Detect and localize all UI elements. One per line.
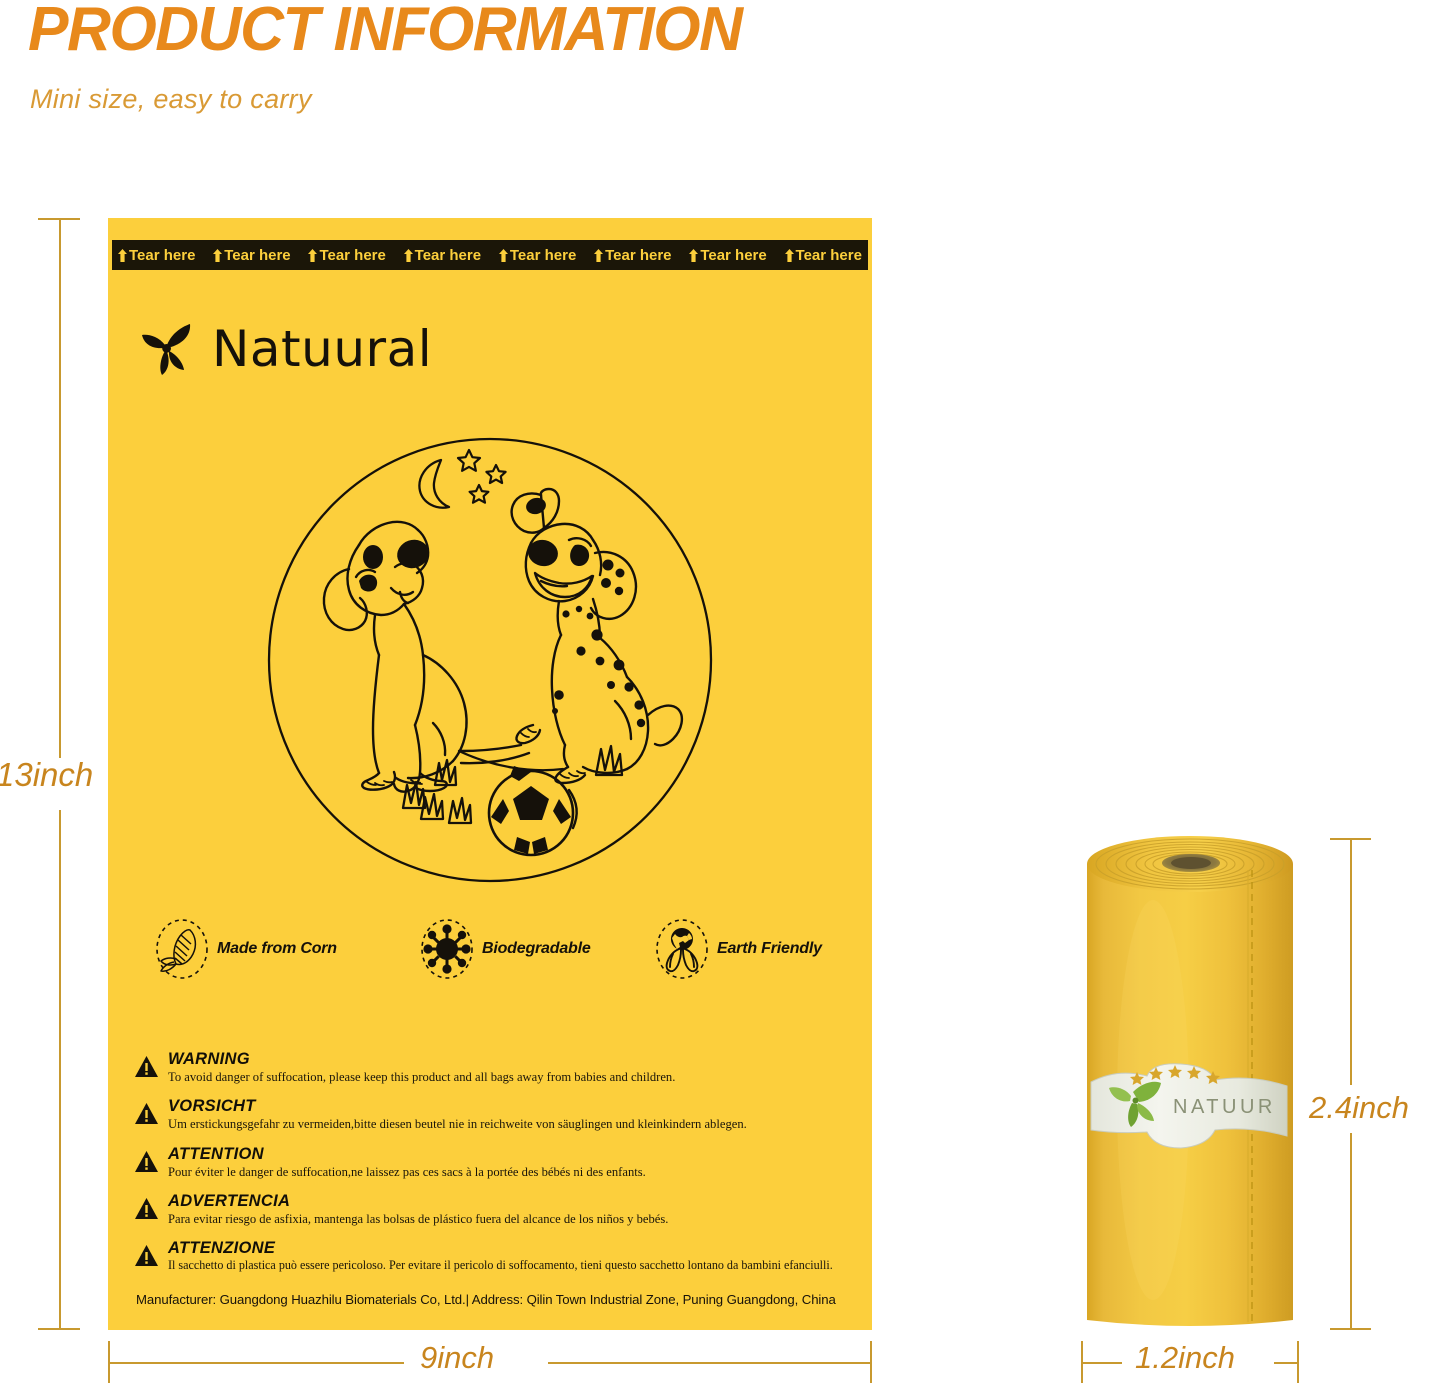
up-arrow-icon <box>785 249 794 262</box>
tear-here-label: Tear here <box>224 247 290 264</box>
warning-triangle-icon <box>134 1197 159 1220</box>
warning-triangle-icon <box>134 1244 159 1267</box>
roll-height-cap-bottom <box>1330 1328 1371 1330</box>
roll-width-cap-right <box>1297 1341 1299 1383</box>
brand-lockup: Natuural <box>136 318 432 380</box>
star-icon <box>458 450 506 503</box>
up-arrow-icon <box>308 249 317 262</box>
feature-made-from-corn: Made from Corn <box>154 918 419 980</box>
corn-icon <box>154 918 210 980</box>
bag-width-cap-right <box>870 1341 872 1383</box>
puppies-illustration <box>263 433 718 888</box>
tear-here-label: Tear here <box>796 247 862 264</box>
tear-here-label: Tear here <box>605 247 671 264</box>
warning-body: Il sacchetto di plastica può essere peri… <box>168 1258 833 1273</box>
warning-title: WARNING <box>168 1050 675 1068</box>
soccer-ball-icon <box>489 766 577 855</box>
roll-height-label: 2.4inch <box>1309 1090 1409 1126</box>
warning-title: ATTENZIONE <box>168 1239 833 1257</box>
tear-here-item: Tear here <box>118 247 195 264</box>
tear-here-label: Tear here <box>129 247 195 264</box>
feature-earth-friendly: Earth Friendly <box>654 918 822 980</box>
brand-name: Natuural <box>212 320 432 378</box>
tear-here-item: Tear here <box>785 247 862 264</box>
warning-title: VORSICHT <box>168 1097 747 1115</box>
warning-body: Um erstickungsgefahr zu vermeiden,bitte … <box>168 1116 747 1132</box>
roll-height-cap-top <box>1330 838 1371 840</box>
warning-row: ATTENTION Pour éviter le danger de suffo… <box>134 1145 850 1180</box>
warning-body: Pour éviter le danger de suffocation,ne … <box>168 1164 646 1180</box>
up-arrow-icon <box>689 249 698 262</box>
warning-triangle-icon <box>134 1102 159 1125</box>
feature-badges: Made from Corn <box>154 918 854 980</box>
warning-row: WARNING To avoid danger of suffocation, … <box>134 1050 850 1085</box>
feature-biodegradable: Biodegradable <box>419 918 654 980</box>
warning-triangle-icon <box>134 1055 159 1078</box>
butterfly-leaf-icon <box>136 318 198 380</box>
bag-width-cap-left <box>108 1341 110 1383</box>
warning-row: ADVERTENCIA Para evitar riesgo de asfixi… <box>134 1192 850 1227</box>
tear-here-label: Tear here <box>415 247 481 264</box>
warning-body: Para evitar riesgo de asfixia, mantenga … <box>168 1211 668 1227</box>
page-subtitle: Mini size, easy to carry <box>30 84 312 115</box>
warning-body: To avoid danger of suffocation, please k… <box>168 1069 675 1085</box>
product-information-page: PRODUCT INFORMATION Mini size, easy to c… <box>0 0 1445 1389</box>
warning-row: ATTENZIONE Il sacchetto di plastica può … <box>134 1239 850 1274</box>
warning-row: VORSICHT Um erstickungsgefahr zu vermeid… <box>134 1097 850 1132</box>
molecule-icon <box>419 918 475 980</box>
tear-here-item: Tear here <box>689 247 766 264</box>
bag-height-label-text: 13inch <box>0 756 93 794</box>
up-arrow-icon <box>499 249 508 262</box>
up-arrow-icon <box>118 249 127 262</box>
roll-width-cap-left <box>1081 1341 1083 1383</box>
page-title: PRODUCT INFORMATION <box>28 0 742 65</box>
up-arrow-icon <box>213 249 222 262</box>
tear-here-label: Tear here <box>319 247 385 264</box>
tear-here-label: Tear here <box>700 247 766 264</box>
puppy-icon <box>324 522 529 792</box>
tear-here-item: Tear here <box>213 247 290 264</box>
warning-list: WARNING To avoid danger of suffocation, … <box>134 1050 850 1286</box>
warning-triangle-icon <box>134 1150 159 1173</box>
bag-width-label: 9inch <box>420 1340 494 1376</box>
crescent-moon-icon <box>419 460 449 508</box>
feature-label: Earth Friendly <box>717 940 822 958</box>
earth-hands-icon <box>654 918 710 980</box>
tear-here-item: Tear here <box>308 247 385 264</box>
bag-height-cap-bottom <box>38 1328 80 1330</box>
up-arrow-icon <box>404 249 413 262</box>
tear-here-strip: Tear here Tear here Tear here Tear here … <box>112 240 868 270</box>
tear-here-item: Tear here <box>594 247 671 264</box>
feature-label: Made from Corn <box>217 940 337 958</box>
poop-bag-front: Tear here Tear here Tear here Tear here … <box>108 218 872 1330</box>
up-arrow-icon <box>594 249 603 262</box>
bag-roll-photo: NATUUR <box>1081 830 1299 1330</box>
label-brand-text: NATUUR <box>1173 1096 1276 1118</box>
tear-here-label: Tear here <box>510 247 576 264</box>
dalmatian-puppy-icon <box>512 489 682 783</box>
manufacturer-line: Manufacturer: Guangdong Huazhilu Biomate… <box>136 1292 836 1307</box>
warning-title: ADVERTENCIA <box>168 1192 668 1210</box>
feature-label: Biodegradable <box>482 940 591 958</box>
warning-title: ATTENTION <box>168 1145 646 1163</box>
roll-width-label: 1.2inch <box>1135 1340 1235 1376</box>
bag-height-cap-top <box>38 218 80 220</box>
roll-height-dimension-line <box>1350 838 1352 1330</box>
tear-here-item: Tear here <box>404 247 481 264</box>
tear-here-item: Tear here <box>499 247 576 264</box>
